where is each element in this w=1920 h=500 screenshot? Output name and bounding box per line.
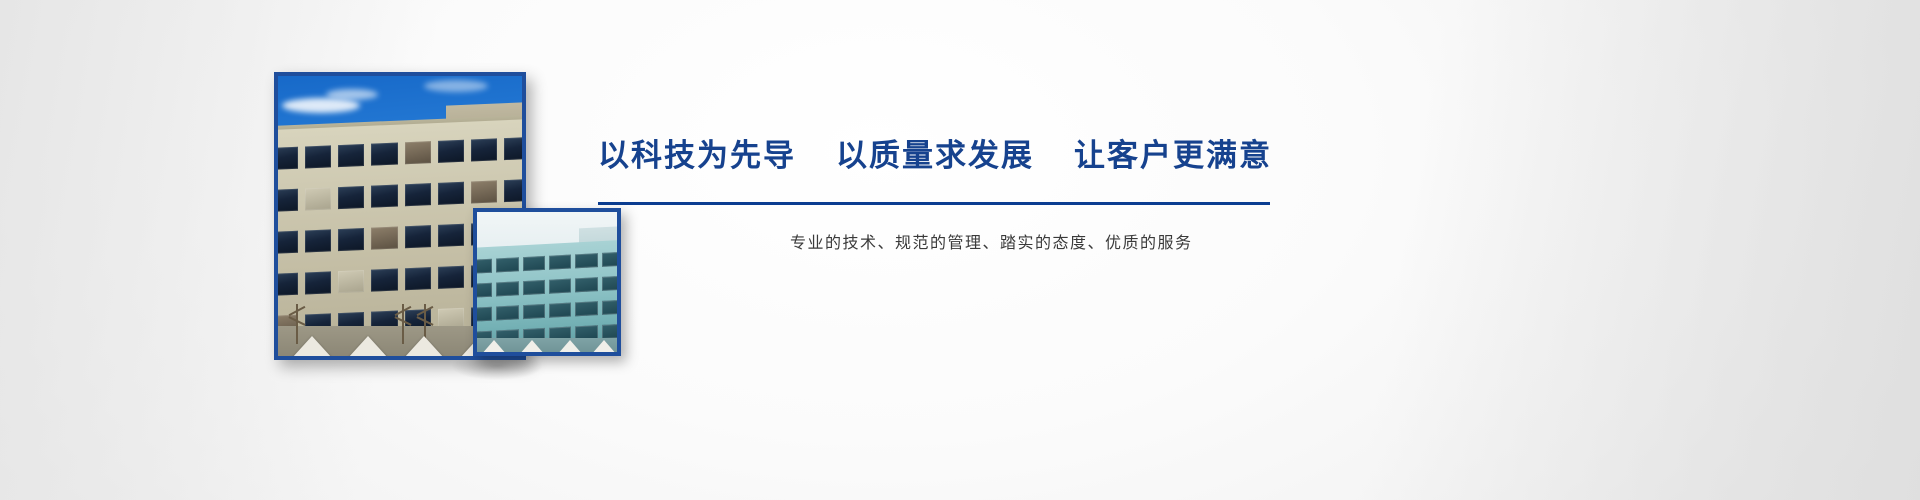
event-tent [348,336,388,358]
slogan-headline: 以科技为先导以质量求发展让客户更满意 [598,140,1298,171]
photo-secondary-image [473,208,621,356]
photo-office-building-secondary[interactable] [473,208,621,356]
event-tent [519,340,545,355]
event-tent [404,336,444,358]
slogan-segment-1: 以科技为先导 [598,140,796,171]
horizontal-divider [598,202,1270,205]
cloud-shape [424,80,488,92]
cloud-shape [326,89,378,100]
photo-collage [0,0,700,500]
slogan-segment-3: 让客户更满意 [1074,140,1272,171]
event-tent [481,340,507,355]
cloud-shape [282,98,360,113]
event-tent [292,336,332,358]
slogan-text-block: 以科技为先导以质量求发展让客户更满意 专业的技术、规范的管理、踏实的态度、优质的… [598,0,1298,500]
company-slogan-banner: 以科技为先导以质量求发展让客户更满意 专业的技术、规范的管理、踏实的态度、优质的… [0,0,1920,500]
event-tent [591,340,617,355]
slogan-subtitle: 专业的技术、规范的管理、踏实的态度、优质的服务 [790,236,1300,252]
event-tent [557,340,583,355]
slogan-segment-2: 以质量求发展 [836,140,1034,171]
